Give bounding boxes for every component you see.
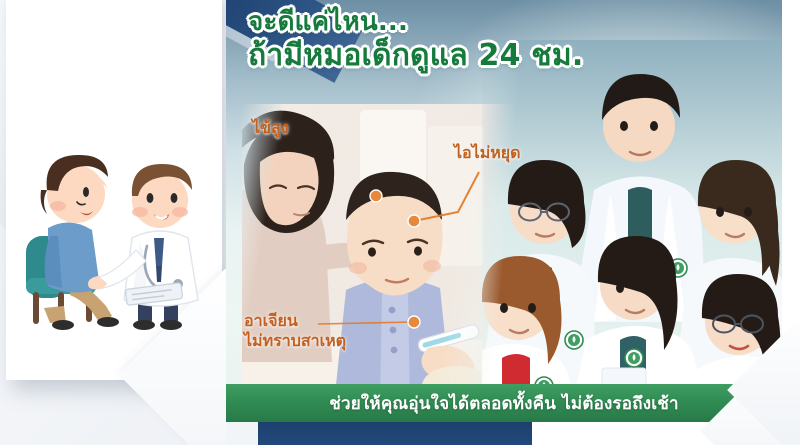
callout-vomiting-line-1: อาเจียน	[244, 311, 346, 331]
patient-figure	[41, 155, 119, 330]
cartoon-illustration-doctor-patient	[14, 118, 219, 348]
callout-persistent-cough: ไอไม่หยุด	[454, 143, 521, 163]
callout-vomiting: อาเจียน ไม่ทราบสาเหตุ	[244, 311, 346, 350]
poster-image: จะดีแค่ไหน... ถ้ามีหมอเด็กดูแล 24 ชม. ไข…	[226, 0, 782, 445]
poster-footer-bar: ช่วยให้คุณอุ่นใจได้ตลอดทั้งคืน ไม่ต้องรอ…	[226, 384, 782, 422]
left-panel	[0, 0, 232, 445]
poster-footer-text: ช่วยให้คุณอุ่นใจได้ตลอดทั้งคืน ไม่ต้องรอ…	[329, 390, 678, 417]
screenshot-root: จะดีแค่ไหน... ถ้ามีหมอเด็กดูแล 24 ชม. ไข…	[0, 0, 800, 445]
headline-line-1: จะดีแค่ไหน...	[248, 8, 708, 38]
headline-line-2: ถ้ามีหมอเด็กดูแล 24 ชม.	[248, 39, 708, 73]
poster-headline: จะดีแค่ไหน... ถ้ามีหมอเด็กดูแล 24 ชม.	[248, 8, 708, 73]
callout-high-fever: ไข้สูง	[252, 118, 289, 138]
footer-left-white-wedge	[226, 422, 258, 445]
doctors-group-photo	[482, 40, 782, 406]
callout-vomiting-line-2: ไม่ทราบสาเหตุ	[244, 331, 346, 351]
